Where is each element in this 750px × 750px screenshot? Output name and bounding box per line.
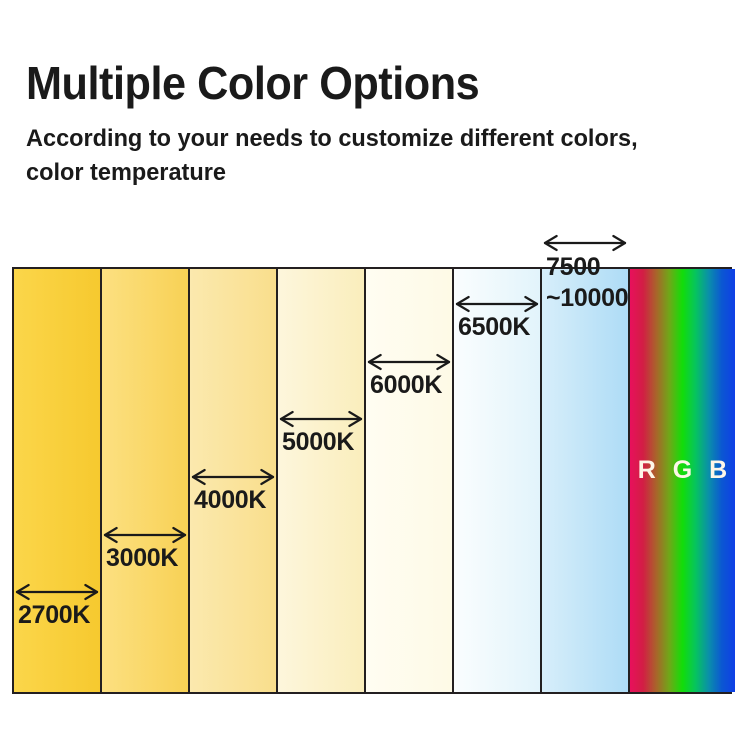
temperature-marker: 5000K <box>278 408 364 430</box>
header-block: Multiple Color Options According to your… <box>26 56 726 190</box>
double-arrow-icon <box>14 581 100 603</box>
color-band-3000k[interactable]: 3000K <box>102 269 190 692</box>
temperature-label: 4000K <box>194 486 266 515</box>
temperature-label: 3000K <box>106 544 178 573</box>
double-arrow-icon <box>454 293 540 315</box>
temperature-label: 6000K <box>370 371 442 400</box>
double-arrow-icon <box>542 232 628 254</box>
color-temperature-infographic: Multiple Color Options According to your… <box>0 0 750 750</box>
page-title: Multiple Color Options <box>26 56 684 110</box>
temperature-marker: 6000K <box>366 351 452 373</box>
color-band-rgb[interactable]: R G B <box>630 269 735 692</box>
color-band-4000k[interactable]: 4000K <box>190 269 278 692</box>
double-arrow-icon <box>102 524 188 546</box>
double-arrow-icon <box>366 351 452 373</box>
color-temperature-strip: 2700K3000K4000K5000K6000K6500K7500 ~1000… <box>12 267 732 694</box>
temperature-marker: 2700K <box>14 581 100 603</box>
temperature-label: 5000K <box>282 428 354 457</box>
color-band-7500-10000k[interactable]: 7500 ~10000K <box>542 269 630 692</box>
temperature-marker: 3000K <box>102 524 188 546</box>
double-arrow-icon <box>278 408 364 430</box>
color-band-6000k[interactable]: 6000K <box>366 269 454 692</box>
color-band-6500k[interactable]: 6500K <box>454 269 542 692</box>
temperature-marker: 7500 ~10000K <box>542 232 628 254</box>
temperature-marker: 6500K <box>454 293 540 315</box>
temperature-label: 2700K <box>18 601 90 630</box>
color-band-2700k[interactable]: 2700K <box>14 269 102 692</box>
color-band-5000k[interactable]: 5000K <box>278 269 366 692</box>
temperature-marker: 4000K <box>190 466 276 488</box>
page-subtitle: According to your needs to customize dif… <box>26 122 688 190</box>
double-arrow-icon <box>190 466 276 488</box>
rgb-label: R G B <box>630 456 735 485</box>
temperature-label: 6500K <box>458 313 530 342</box>
